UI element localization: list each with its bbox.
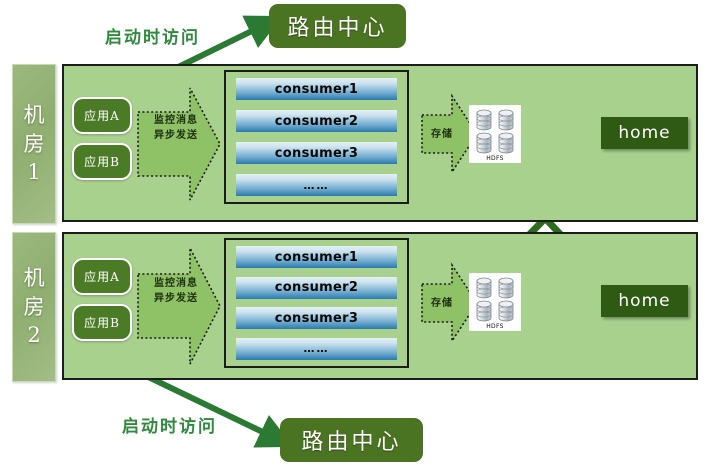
database-cylinder-icon — [474, 109, 495, 131]
startup-access-label-top: 启动时访问 — [105, 23, 200, 48]
consumer-row[interactable]: consumer1 — [236, 246, 397, 268]
dc1-line3: 1 — [27, 158, 40, 186]
routing-center-bottom[interactable]: 路由中心 — [280, 418, 423, 462]
database-cylinder-icon — [474, 132, 495, 154]
consumer-row[interactable]: consumer2 — [236, 110, 397, 132]
monitor-chevron-label-2: 监控消息 异步发送 — [146, 277, 206, 306]
database-cylinder-icon — [496, 109, 517, 131]
dc2-line1: 机 — [24, 264, 45, 292]
consumer-panel-2: consumer1 consumer2 consumer3 …… — [224, 238, 409, 368]
dc1-line1: 机 — [24, 101, 45, 129]
storage-chevron-label-2: 存储 — [425, 297, 459, 312]
monitor-chevron-1 — [136, 82, 222, 206]
consumer-row[interactable]: consumer3 — [236, 307, 397, 329]
hdfs-card-2[interactable]: HDFS — [469, 273, 521, 331]
database-cylinder-icon — [496, 300, 517, 322]
consumer-row-more: …… — [236, 174, 397, 196]
app-box-1b[interactable]: 应用B — [72, 143, 132, 180]
database-cylinder-icon — [496, 132, 517, 154]
database-cylinder-icon — [474, 300, 495, 322]
home-box-1[interactable]: home — [601, 117, 688, 149]
database-cylinder-icon — [496, 277, 517, 299]
app-box-2a[interactable]: 应用A — [72, 258, 132, 295]
routing-center-top[interactable]: 路由中心 — [269, 4, 406, 48]
home-box-2[interactable]: home — [601, 285, 688, 317]
consumer-row-more: …… — [236, 338, 397, 360]
dc2-line3: 2 — [27, 321, 40, 349]
consumer-row[interactable]: consumer1 — [236, 78, 397, 100]
monitor-label-1-line2: 异步发送 — [146, 129, 206, 144]
hdfs-node-grid-2 — [474, 277, 517, 322]
hdfs-card-1[interactable]: HDFS — [469, 105, 521, 163]
monitor-chevron-label-1: 监控消息 异步发送 — [146, 114, 206, 143]
dc2-line2: 房 — [24, 293, 45, 321]
app-box-2b[interactable]: 应用B — [72, 304, 132, 341]
datacenter-label-1: 机 房 1 — [12, 64, 56, 224]
storage-chevron-label-1: 存储 — [425, 128, 459, 143]
consumer-row[interactable]: consumer3 — [236, 142, 397, 164]
hdfs-label-1: HDFS — [486, 155, 504, 162]
monitor-label-1-line1: 监控消息 — [146, 114, 206, 129]
consumer-row[interactable]: consumer2 — [236, 277, 397, 299]
consumer-panel-1: consumer1 consumer2 consumer3 …… — [224, 70, 409, 204]
hdfs-node-grid-1 — [474, 109, 517, 154]
diagram-canvas: 路由中心 启动时访问 机 房 1 应用A 应用B 监控消息 异步发送 consu… — [0, 0, 710, 469]
app-box-1a[interactable]: 应用A — [72, 97, 132, 134]
dc1-line2: 房 — [24, 130, 45, 158]
database-cylinder-icon — [474, 277, 495, 299]
startup-access-label-bottom: 启动时访问 — [122, 412, 217, 437]
datacenter-label-2: 机 房 2 — [12, 232, 56, 382]
hdfs-label-2: HDFS — [486, 323, 504, 330]
monitor-label-2-line1: 监控消息 — [146, 277, 206, 292]
monitor-label-2-line2: 异步发送 — [146, 292, 206, 307]
